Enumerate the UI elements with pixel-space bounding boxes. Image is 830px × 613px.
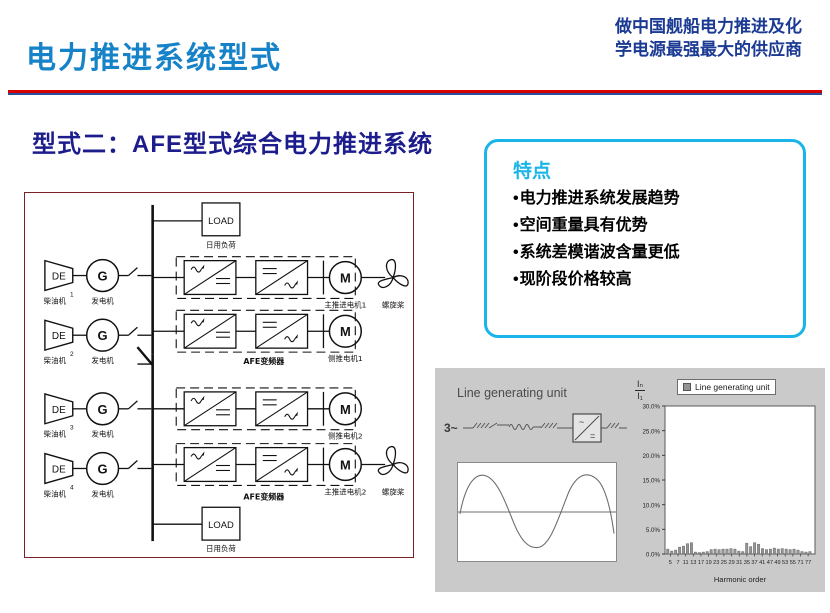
svg-text:=: = [590,431,595,441]
svg-text:M: M [340,402,351,417]
bullet-icon: • [513,271,519,288]
svg-text:19: 19 [706,560,712,566]
svg-text:35: 35 [744,560,750,566]
svg-text:DE: DE [52,464,66,475]
feature-callout-box: 特点 •电力推进系统发展趋势 •空间重量具有优势 •系统差模谐波含量更低 •现阶… [484,139,806,338]
svg-text:15.0%: 15.0% [642,478,660,485]
svg-text:DE: DE [52,405,66,416]
header-divider-blue [8,93,822,95]
svg-text:AFE变频器: AFE变频器 [243,356,285,366]
drive-line-3: M 侧推电机2 [153,388,362,441]
svg-text:0.0%: 0.0% [646,552,661,559]
feature-item-label: 现阶段价格较高 [520,271,632,288]
svg-text:M: M [340,457,351,472]
svg-text:柴油机: 柴油机 [44,429,67,439]
svg-text:M: M [340,271,351,286]
svg-text:侧推电机2: 侧推电机2 [328,431,363,441]
y-axis-numerator: Iₙ [635,380,645,391]
feature-item-label: 电力推进系统发展趋势 [520,190,680,207]
svg-text:LOAD: LOAD [208,520,234,531]
ship-service-load-top: LOAD 日用负荷 [153,203,240,250]
tagline-line-2: 学电源最强最大的供应商 [512,39,802,62]
page-title: 电力推进系统型式 [26,33,282,77]
svg-text:日用负荷: 日用负荷 [206,240,236,250]
slide-header: 电力推进系统型式 做中国舰船电力推进及化 学电源最强最大的供应商 [0,0,830,92]
svg-text:29: 29 [728,560,734,566]
bus-tie-breaker [137,347,152,365]
bullet-icon: • [513,190,519,207]
svg-text:主推进电机2: 主推进电机2 [324,486,366,496]
svg-text:G: G [98,269,108,284]
svg-text:G: G [98,461,108,476]
svg-text:螺旋桨: 螺旋桨 [382,299,405,309]
svg-text:31: 31 [736,560,742,566]
svg-text:71: 71 [797,560,803,566]
svg-text:37: 37 [751,560,757,566]
svg-text:柴油机: 柴油机 [44,488,67,498]
svg-text:螺旋桨: 螺旋桨 [382,486,405,496]
feature-item-label: 系统差模谐波含量更低 [520,244,680,261]
diagram-canvas: DE 柴油机 1 G 发电机 DE 柴油机 2 G 发电机 [25,193,413,557]
svg-text:发电机: 发电机 [91,488,114,498]
slide-root: 电力推进系统型式 做中国舰船电力推进及化 学电源最强最大的供应商 型式二：AFE… [0,0,830,613]
generator-set-3: DE 柴油机 3 G 发电机 [44,393,152,439]
svg-text:1: 1 [70,291,74,298]
harmonic-bar-chart: Iₙ I₁ Line generating unit 0.0%5.0%10.0%… [631,374,821,588]
svg-text:11: 11 [683,560,689,566]
single-line-diagram: DE 柴油机 1 G 发电机 DE 柴油机 2 G 发电机 [24,192,414,558]
svg-text:发电机: 发电机 [91,355,114,365]
svg-text:77: 77 [805,560,811,566]
legend-swatch-icon [683,383,691,391]
chart-svg: 0.0%5.0%10.0%15.0%20.0%25.0%30.0%5711131… [631,400,821,588]
svg-text:30.0%: 30.0% [642,404,660,411]
svg-text:~: ~ [579,417,584,427]
propeller-icon [378,447,408,475]
svg-text:Harmonic order: Harmonic order [714,575,767,584]
chart-legend: Line generating unit [677,379,776,395]
svg-text:3~: 3~ [444,421,458,435]
svg-text:20.0%: 20.0% [642,453,660,460]
line-generating-unit-title: Line generating unit [457,386,567,400]
propeller-icon [378,260,408,288]
svg-text:G: G [98,328,108,343]
chart-plot-area: 0.0%5.0%10.0%15.0%20.0%25.0%30.0%5711131… [631,400,821,588]
svg-text:DE: DE [52,331,66,342]
svg-text:G: G [98,402,108,417]
svg-text:发电机: 发电机 [91,429,114,439]
voltage-waveform-box [457,462,617,562]
svg-text:2: 2 [70,351,74,358]
feature-item: •空间重量具有优势 [513,216,785,236]
svg-text:4: 4 [70,484,74,491]
feature-item: •现阶段价格较高 [513,270,785,290]
sine-wave-trace [460,475,614,548]
svg-text:柴油机: 柴油机 [44,355,67,365]
svg-text:55: 55 [790,560,796,566]
chart-y-axis-label: Iₙ I₁ [635,380,645,401]
svg-text:日用负荷: 日用负荷 [206,543,236,553]
drive-line-1: M 主推进电机1 螺旋桨 [153,257,408,310]
bullet-icon: • [513,217,519,234]
svg-text:25: 25 [721,560,727,566]
svg-text:5: 5 [669,560,672,566]
svg-text:M: M [340,324,351,339]
company-tagline: 做中国舰船电力推进及化 学电源最强最大的供应商 [512,16,802,62]
svg-text:柴油机: 柴油机 [44,295,67,305]
tagline-line-1: 做中国舰船电力推进及化 [512,16,802,39]
ship-service-load-bottom: LOAD 日用负荷 [153,507,240,553]
svg-text:DE: DE [52,272,66,283]
svg-text:7: 7 [676,560,679,566]
svg-text:49: 49 [774,560,780,566]
feature-item: •电力推进系统发展趋势 [513,189,785,209]
legend-label: Line generating unit [695,382,770,392]
svg-text:23: 23 [713,560,719,566]
svg-text:5.0%: 5.0% [646,527,661,534]
line-generating-unit-circuit: 3~ ~ = [441,410,641,450]
feature-item-label: 空间重量具有优势 [520,217,648,234]
feature-item: •系统差模谐波含量更低 [513,243,785,263]
harmonic-analysis-panel: Line generating unit 3~ ~ = [435,368,825,592]
section-subtitle: 型式二：AFE型式综合电力推进系统 [32,124,433,159]
svg-text:41: 41 [759,560,765,566]
svg-text:53: 53 [782,560,788,566]
drive-line-4: M 主推进电机2 螺旋桨 AFE变频器 [153,444,408,502]
drive-line-2: M 侧推电机1 AFE变频器 [153,310,363,366]
svg-text:AFE变频器: AFE变频器 [243,491,285,501]
bullet-icon: • [513,244,519,261]
svg-text:25.0%: 25.0% [642,428,660,435]
generator-set-1: DE 柴油机 1 G 发电机 [44,260,152,306]
svg-text:47: 47 [767,560,773,566]
bus-bar-lower [151,370,154,541]
svg-text:主推进电机1: 主推进电机1 [324,299,366,309]
generator-set-4: DE 柴油机 4 G 发电机 [44,453,152,499]
feature-box-title: 特点 [513,156,785,183]
svg-text:侧推电机1: 侧推电机1 [328,353,363,363]
waveform-plot [458,463,616,561]
svg-text:发电机: 发电机 [91,295,114,305]
svg-text:10.0%: 10.0% [642,502,660,509]
svg-text:17: 17 [698,560,704,566]
generator-set-2: DE 柴油机 2 G 发电机 [44,319,152,365]
svg-text:3: 3 [70,425,74,432]
svg-text:LOAD: LOAD [208,216,234,227]
svg-text:13: 13 [690,560,696,566]
